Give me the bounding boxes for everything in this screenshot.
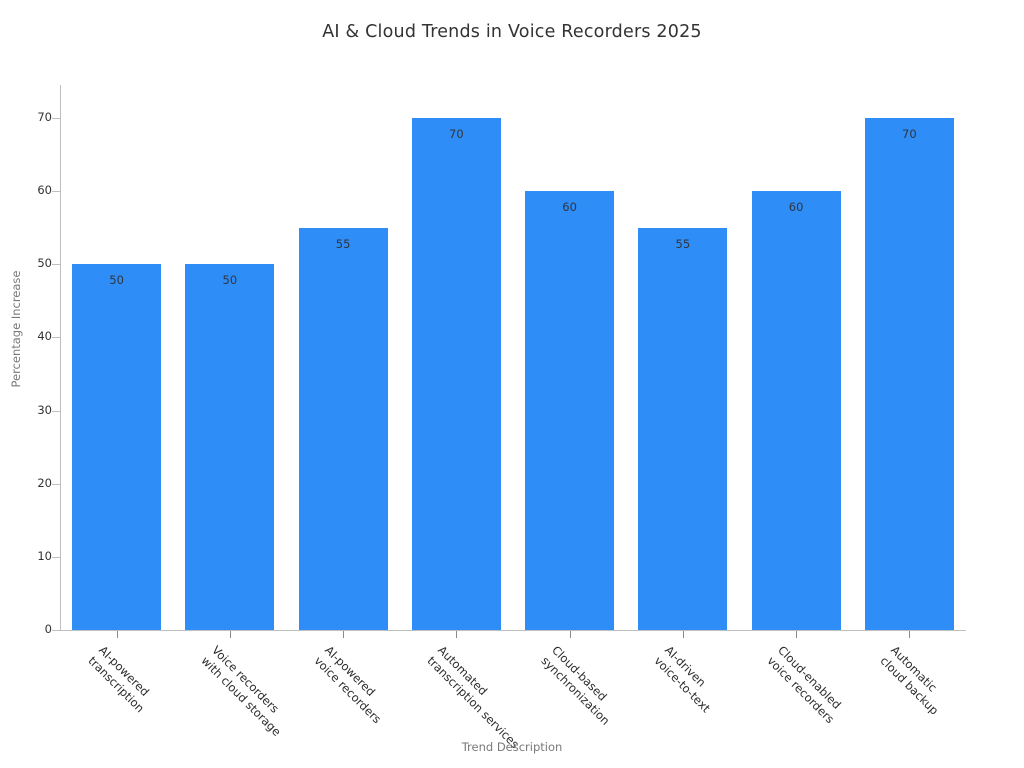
y-tick-label: 70 (12, 112, 52, 124)
bar (72, 264, 161, 630)
x-tick-label-line: transcription services (424, 654, 522, 752)
bar (752, 191, 841, 630)
x-tick-mark (230, 631, 231, 638)
bar-value-label: 60 (525, 202, 614, 214)
y-tick-label: 10 (12, 551, 52, 563)
bar-value-label: 70 (412, 129, 501, 141)
x-tick-mark (456, 631, 457, 638)
y-tick-mark (52, 337, 60, 338)
x-tick-mark (117, 631, 118, 638)
bar (412, 118, 501, 630)
y-tick-label: 0 (12, 624, 52, 636)
y-tick-mark (52, 264, 60, 265)
y-axis-spine (60, 85, 61, 630)
x-tick-mark (570, 631, 571, 638)
x-tick-label: AI-poweredtranscription (84, 643, 157, 716)
x-tick-label: Cloud-basedsynchronization (537, 643, 623, 729)
bar (865, 118, 954, 630)
y-tick-label: 60 (12, 185, 52, 197)
x-tick-label: AI-drivenvoice-to-text (650, 643, 723, 716)
y-tick-mark (52, 118, 60, 119)
x-tick-mark (909, 631, 910, 638)
x-tick-label: Automaticcloud backup (877, 643, 952, 718)
y-tick-mark (52, 630, 60, 631)
y-tick-mark (52, 411, 60, 412)
y-tick-mark (52, 191, 60, 192)
bar (299, 228, 388, 630)
bar (185, 264, 274, 630)
x-tick-mark (796, 631, 797, 638)
bar (638, 228, 727, 630)
y-tick-mark (52, 557, 60, 558)
y-axis-title: Percentage Increase (9, 249, 23, 409)
x-tick-mark (683, 631, 684, 638)
x-tick-label: Automatedtranscription services (424, 643, 533, 752)
x-tick-label: AI-poweredvoice recorders (311, 643, 395, 727)
x-tick-label: Voice recorderswith cloud storage (197, 643, 294, 740)
y-tick-label: 20 (12, 478, 52, 490)
bar-value-label: 50 (72, 275, 161, 287)
chart-figure: AI & Cloud Trends in Voice Recorders 202… (0, 0, 1024, 768)
bar (525, 191, 614, 630)
bar-value-label: 60 (752, 202, 841, 214)
bar-value-label: 55 (299, 239, 388, 251)
x-tick-mark (343, 631, 344, 638)
x-tick-label-line: Automated (435, 643, 533, 741)
y-tick-mark (52, 484, 60, 485)
x-tick-label: Cloud-enabledvoice recorders (764, 643, 848, 727)
bar-value-label: 50 (185, 275, 274, 287)
bar-value-label: 70 (865, 129, 954, 141)
bar-value-label: 55 (638, 239, 727, 251)
chart-title: AI & Cloud Trends in Voice Recorders 202… (0, 22, 1024, 42)
x-axis-title: Trend Description (0, 740, 1024, 754)
x-axis-spine (60, 630, 966, 631)
